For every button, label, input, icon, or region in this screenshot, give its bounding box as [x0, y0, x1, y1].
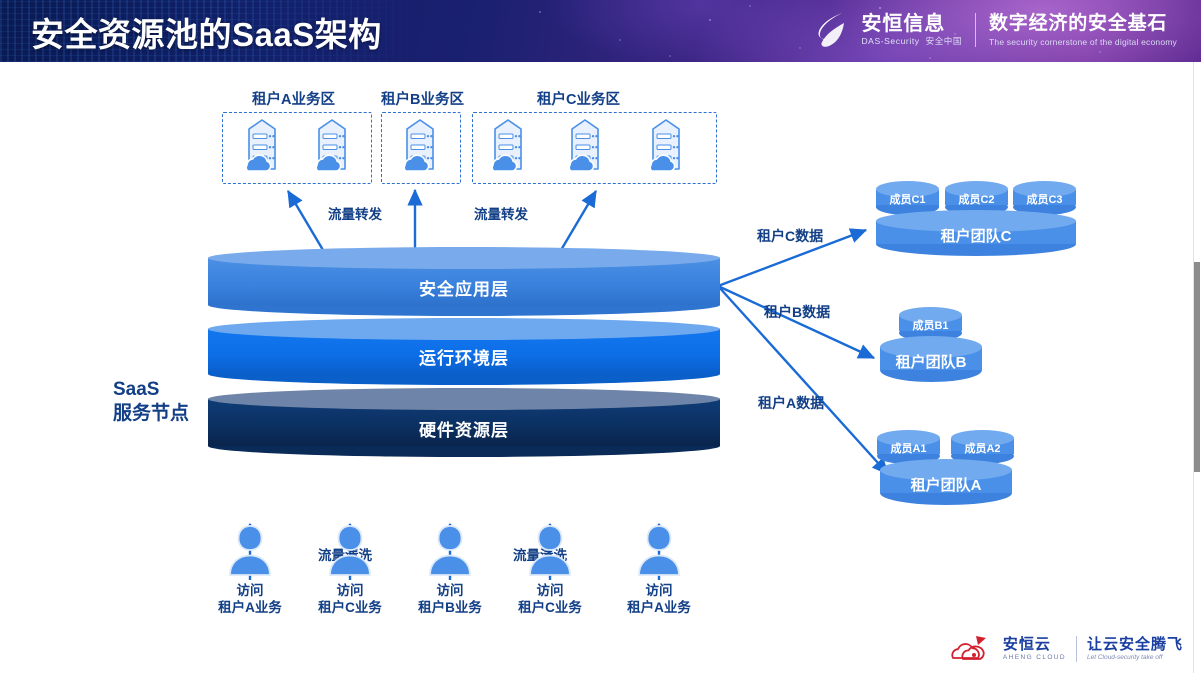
flow-label-forward-right: 流量转发: [474, 203, 528, 223]
data-flow-label-c: 租户C数据: [757, 226, 823, 246]
server-icon: [397, 117, 443, 175]
footer-brand-name: 安恒云 AHENG CLOUD: [1003, 637, 1066, 662]
page-title: 安全资源池的SaaS架构: [31, 8, 382, 56]
brand-divider: [975, 13, 976, 47]
footer-tagline: 让云安全腾飞 Let Cloud-security take off: [1087, 637, 1183, 662]
stack-layer-hardware: 硬件资源层: [208, 388, 720, 468]
server-icon: [485, 117, 531, 175]
diagram-canvas: 租户A业务区 租户B业务区: [0, 62, 1201, 673]
user-label: 访问租户C业务: [490, 582, 610, 616]
stack-layer-label: 运行环境层: [208, 344, 720, 369]
data-flow-label-a: 租户A数据: [758, 393, 824, 413]
user-icon: [527, 522, 573, 578]
server-icon: [309, 117, 355, 175]
team-member-c3: 成员C3: [1013, 181, 1076, 213]
member-label: 成员B1: [899, 317, 962, 333]
team-member-a1: 成员A1: [877, 430, 940, 462]
member-label: 成员C1: [876, 191, 939, 207]
scrollbar-track[interactable]: [1193, 62, 1201, 673]
user-icon: [636, 522, 682, 578]
scrollbar-thumb[interactable]: [1194, 262, 1200, 472]
header-brand: 安恒信息 DAS-Security 安全中国 数字经济的安全基石 The sec…: [814, 11, 1177, 49]
brand-tagline-cn: 数字经济的安全基石: [989, 13, 1177, 35]
team-label: 租户团队B: [880, 351, 982, 372]
team-cylinder-c: 租户团队C: [876, 210, 1076, 260]
footer-brand: 安恒云 AHENG CLOUD 让云安全腾飞 Let Cloud-securit…: [947, 634, 1183, 664]
team-member-c2: 成员C2: [945, 181, 1008, 213]
stack-layer-security-app: 安全应用层: [208, 247, 720, 327]
brand-name-en: DAS-Security 安全中国: [861, 36, 962, 47]
user-label: 访问租户A业务: [599, 582, 719, 616]
team-member-b1: 成员B1: [899, 307, 962, 339]
member-label: 成员C3: [1013, 191, 1076, 207]
brand-name-cn: 安恒信息: [861, 13, 962, 35]
data-flow-label-b: 租户B数据: [764, 302, 830, 322]
server-icon: [562, 117, 608, 175]
stack-layer-label: 安全应用层: [208, 275, 720, 300]
user-icon: [427, 522, 473, 578]
brand-name-block: 安恒信息 DAS-Security 安全中国: [861, 13, 962, 47]
team-member-c1: 成员C1: [876, 181, 939, 213]
cloud-rocket-icon: [947, 634, 993, 664]
footer-brand-cn: 安恒云: [1003, 637, 1066, 653]
team-member-a2: 成员A2: [951, 430, 1014, 462]
team-label: 租户团队C: [876, 225, 1076, 246]
brand-tagline-en: The security cornerstone of the digital …: [989, 37, 1177, 48]
zone-label-c: 租户C业务区: [537, 88, 620, 109]
slide-header: 安全资源池的SaaS架构 安恒信息 DAS-Security 安全中国 数字经济…: [0, 0, 1201, 62]
footer-tagline-cn: 让云安全腾飞: [1087, 637, 1183, 653]
member-label: 成员A2: [951, 440, 1014, 456]
user-icon: [227, 522, 273, 578]
member-label: 成员A1: [877, 440, 940, 456]
member-label: 成员C2: [945, 191, 1008, 207]
footer-brand-en: AHENG CLOUD: [1003, 653, 1066, 662]
server-icon: [643, 117, 689, 175]
slide-root: 安全资源池的SaaS架构 安恒信息 DAS-Security 安全中国 数字经济…: [0, 0, 1201, 673]
zone-label-a: 租户A业务区: [252, 88, 335, 109]
user-icon: [327, 522, 373, 578]
team-cylinder-a: 租户团队A: [880, 459, 1012, 509]
das-security-swoosh-icon: [814, 11, 848, 49]
flow-label-forward-left: 流量转发: [328, 203, 382, 223]
stack-layer-label: 硬件资源层: [208, 416, 720, 441]
server-icon: [239, 117, 285, 175]
stack-layer-runtime-env: 运行环境层: [208, 318, 720, 396]
team-label: 租户团队A: [880, 474, 1012, 495]
footer-tagline-en: Let Cloud-security take off: [1087, 653, 1183, 662]
brand-tagline-block: 数字经济的安全基石 The security cornerstone of th…: [989, 13, 1177, 48]
saas-node-label: SaaS服务节点: [113, 378, 189, 426]
footer-divider: [1076, 636, 1077, 662]
zone-label-b: 租户B业务区: [381, 88, 464, 109]
team-cylinder-b: 租户团队B: [880, 336, 982, 386]
